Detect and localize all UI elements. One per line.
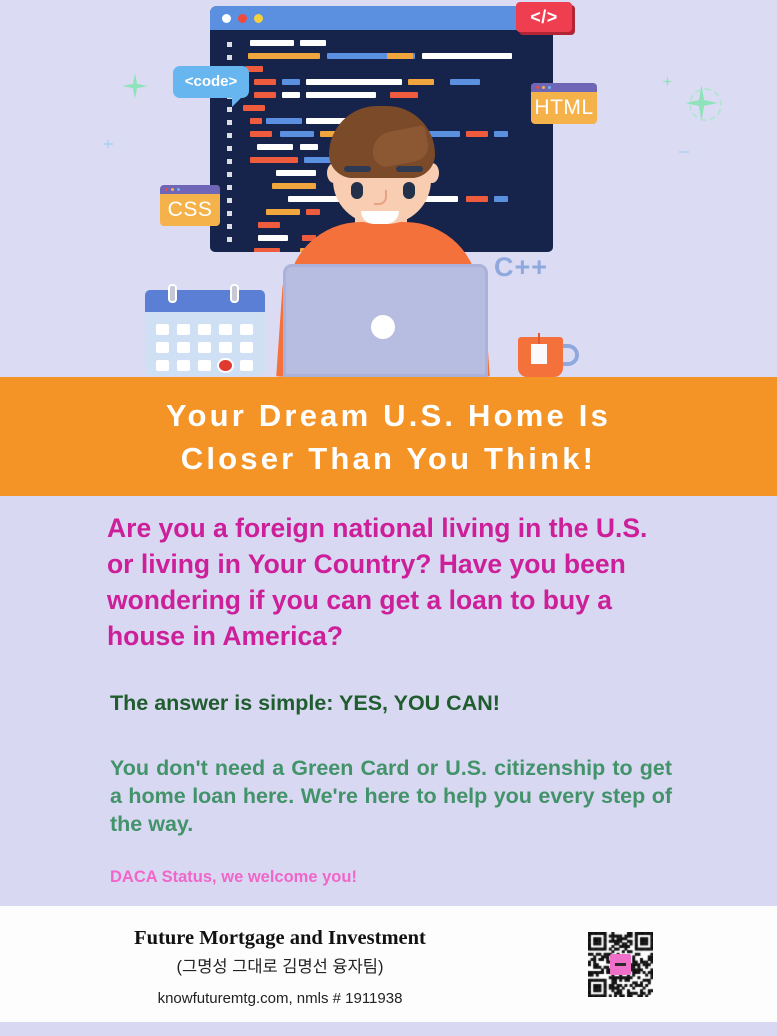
html-badge-dot-blue [548,86,551,89]
editor-gutter-mark [227,224,232,229]
content-section: Are you a foreign national living in the… [0,496,777,906]
bottom-strip [0,1022,777,1036]
cpp-label: C++ [494,252,548,283]
headline-line-2: Closer Than You Think! [181,437,596,480]
code-tag-badge: </> [516,2,572,32]
editor-gutter-mark [227,107,232,112]
code-line-segment [387,53,413,59]
calendar-cell [156,360,169,371]
editor-gutter-mark [227,146,232,151]
html-badge-dot-red [536,86,539,89]
editor-title-bar [210,6,553,30]
calendar-cell [177,360,190,371]
calendar-cell [156,342,169,353]
window-dot-yellow [254,14,263,23]
calendar-cell [177,342,190,353]
css-badge-label: CSS [160,194,220,226]
css-badge-dot-blue [177,188,180,191]
sparkle-star-left [122,73,148,99]
calendar-icon [145,290,265,376]
editor-gutter-mark [227,185,232,190]
calendar-cell [240,360,253,371]
company-name-korean: (그명성 그대로 김명선 융자팀) [0,953,560,977]
calendar-cell [240,342,253,353]
code-line-segment [250,131,272,137]
code-line-segment [250,118,262,124]
code-line-segment [494,196,508,202]
css-badge: CSS [160,185,220,226]
code-line-segment [306,79,402,85]
code-tag-label: </> [516,2,572,32]
code-line-segment [280,131,314,137]
editor-gutter-mark [227,133,232,138]
calendar-ring-left [168,284,177,303]
code-line-segment [266,209,300,215]
code-line-segment [257,144,293,150]
sparkle-ring-right [689,88,722,121]
code-line-segment [300,144,318,150]
calendar-cell [240,324,253,335]
calendar-marked-date [217,358,234,373]
code-line-segment [250,157,298,163]
code-line-segment [422,53,512,59]
code-line-segment [494,131,508,137]
css-badge-dot-red [165,188,168,191]
sparkle-tick-right [679,151,689,153]
laptop-logo [371,315,395,339]
calendar-cell [219,324,232,335]
code-line-segment [266,118,302,124]
calendar-cell [198,342,211,353]
window-dot-red [238,14,247,23]
code-line-segment [282,92,300,98]
editor-gutter-mark [227,159,232,164]
code-line-segment [250,40,294,46]
sparkle-star-small-right [662,76,673,87]
code-line-segment [258,222,280,228]
calendar-ring-right [230,284,239,303]
headline-banner: Your Dream U.S. Home Is Closer Than You … [0,377,777,496]
person-eye-right [403,182,415,199]
code-line-segment [306,92,376,98]
calendar-cell [198,324,211,335]
tea-tag [531,344,547,364]
company-name: Future Mortgage and Investment [0,927,560,950]
code-speech-bubble: <code> [173,66,249,98]
code-line-segment [390,92,418,98]
window-dot-white [222,14,231,23]
sparkle-tick-left2 [107,140,109,148]
daca-note: DACA Status, we welcome you! [110,868,690,887]
code-line-segment [254,248,280,252]
question-paragraph: Are you a foreign national living in the… [107,510,673,654]
editor-gutter-mark [227,237,232,242]
editor-gutter-mark [227,211,232,216]
html-badge-bar [531,83,597,92]
calendar-cell [177,324,190,335]
code-line-segment [248,53,320,59]
qr-code[interactable] [588,932,653,997]
css-badge-dot-orange [171,188,174,191]
code-line-segment [466,131,488,137]
code-line-segment [272,183,316,189]
editor-gutter-mark [227,42,232,47]
editor-gutter-mark [227,120,232,125]
flyer-page: </> <code> HTML CSS C++ [0,0,777,1036]
code-line-segment [254,92,276,98]
html-badge-dot-orange [542,86,545,89]
code-bubble-label: <code> [173,66,249,98]
code-line-segment [282,79,300,85]
person-brow-right [396,166,423,172]
calendar-cell [198,360,211,371]
qr-center-logo [610,954,631,975]
code-line-segment [258,235,288,241]
editor-gutter-mark [227,172,232,177]
hero-illustration: </> <code> HTML CSS C++ [0,0,777,377]
calendar-header [145,290,265,312]
code-line-segment [254,79,276,85]
person-eye-left [351,182,363,199]
html-badge: HTML [531,83,597,124]
person-brow-left [344,166,371,172]
footer-contact: knowfuturemtg.com, nmls # 1911938 [0,990,560,1007]
code-line-segment [408,79,434,85]
headline-line-1: Your Dream U.S. Home Is [166,394,611,437]
code-line-segment [450,79,480,85]
code-line-segment [306,209,320,215]
calendar-cell [156,324,169,335]
footer-section: Future Mortgage and Investment (그명성 그대로 … [0,906,777,1022]
css-badge-bar [160,185,220,194]
code-line-segment [243,105,265,111]
answer-line: The answer is simple: YES, YOU CAN! [110,691,690,716]
code-line-segment [300,40,326,46]
code-line-segment [466,196,488,202]
html-badge-label: HTML [531,92,597,124]
explanation-paragraph: You don't need a Green Card or U.S. citi… [110,754,672,838]
editor-gutter-mark [227,198,232,203]
editor-gutter-mark [227,55,232,60]
calendar-cell [219,342,232,353]
code-line-segment [276,170,316,176]
